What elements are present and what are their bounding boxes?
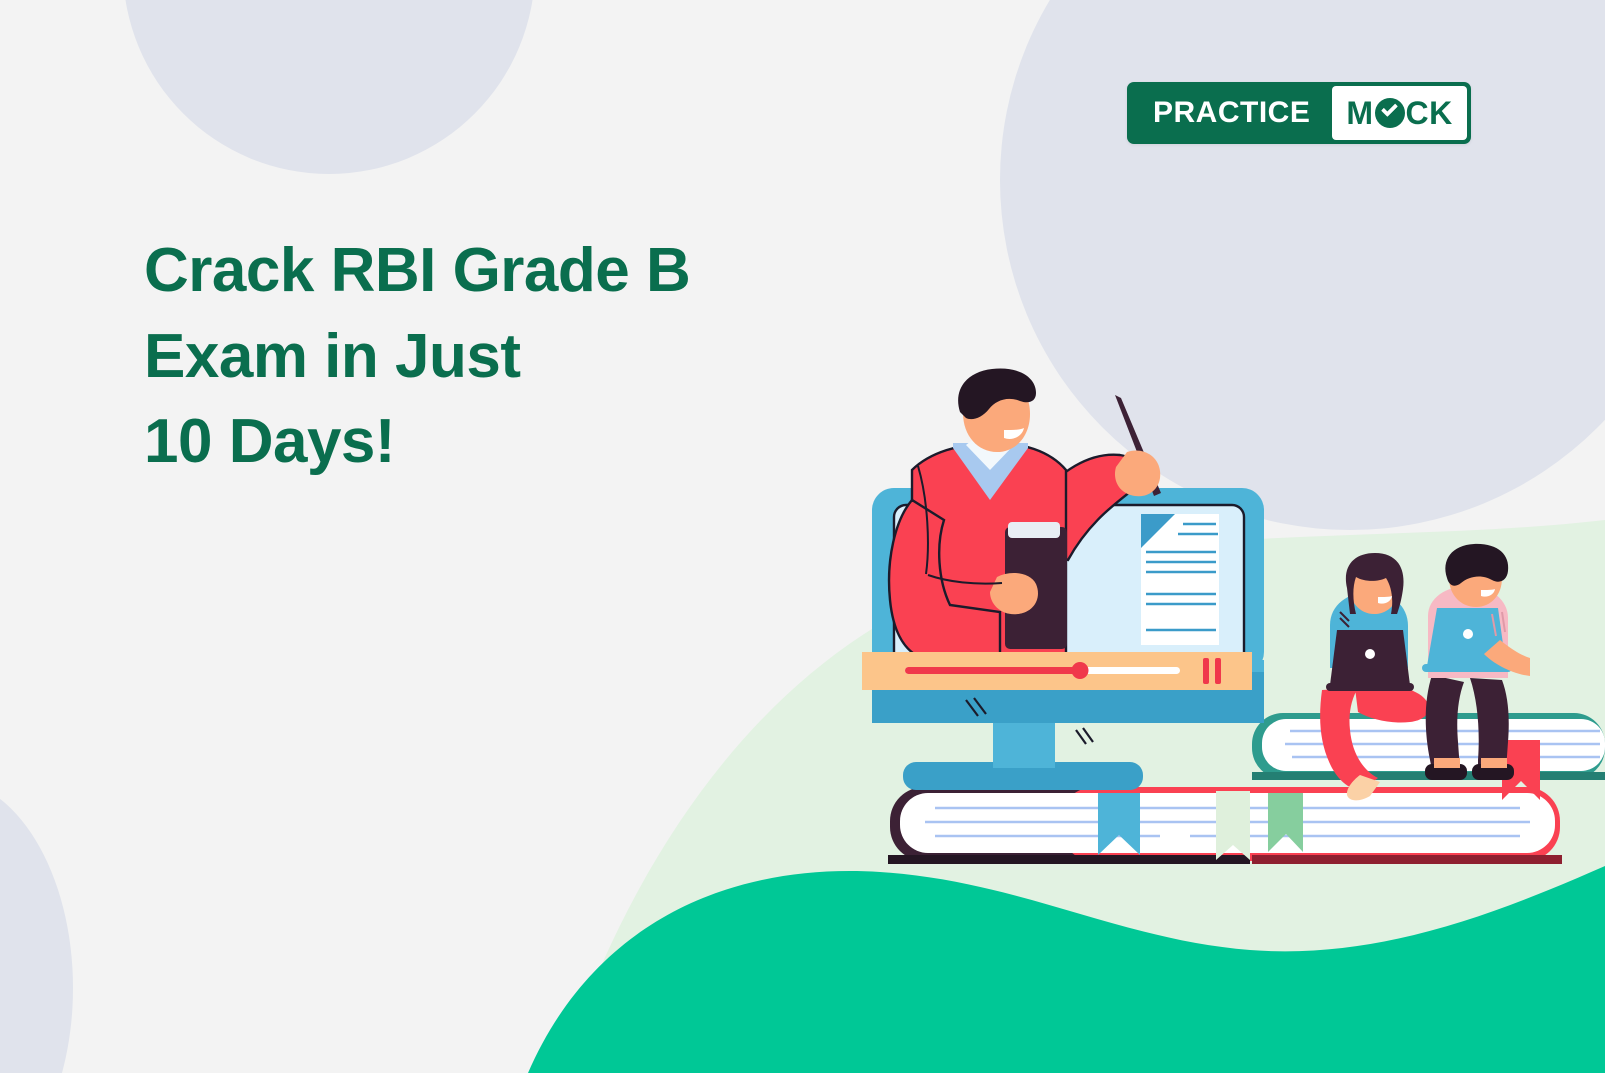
promo-banner: Crack RBI Grade B Exam in Just 10 Days! … — [0, 0, 1605, 1073]
logo-mock-ck: CK — [1406, 95, 1453, 132]
logo-mock-word: M CK — [1346, 95, 1452, 132]
page-title: Crack RBI Grade B Exam in Just 10 Days! — [144, 228, 690, 485]
check-in-o-icon — [1375, 98, 1405, 128]
logo-practice-word: PRACTICE — [1127, 82, 1332, 144]
video-progress-bar — [862, 652, 1252, 690]
logo-mock-m: M — [1346, 95, 1373, 132]
screen-document — [1141, 514, 1219, 645]
online-learning-illustration — [0, 0, 1605, 1073]
logo-mock-box: M CK — [1332, 86, 1466, 140]
progress-handle — [1072, 662, 1089, 679]
practicemock-logo[interactable]: PRACTICE M CK — [1127, 82, 1471, 144]
